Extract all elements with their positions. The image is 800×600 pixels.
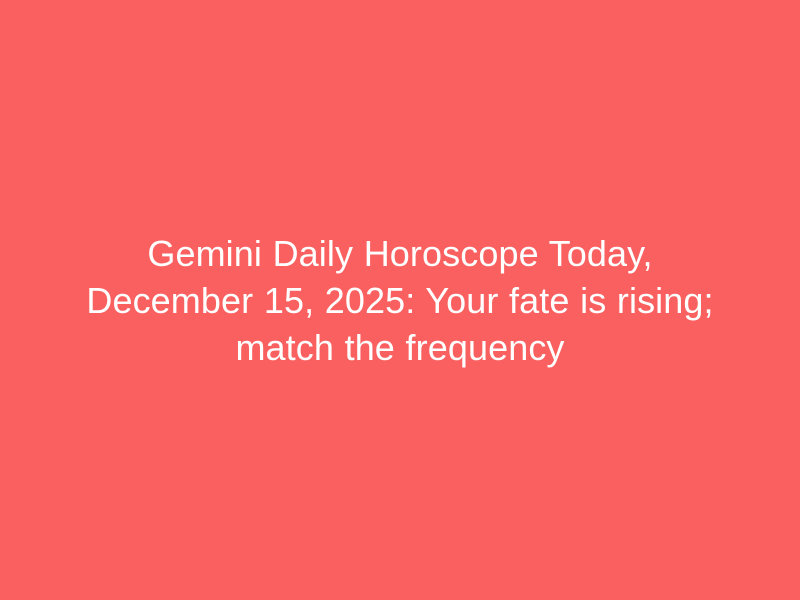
- horoscope-headline-card: Gemini Daily Horoscope Today, December 1…: [0, 0, 800, 600]
- headline-block: Gemini Daily Horoscope Today, December 1…: [50, 230, 750, 371]
- page-title: Gemini Daily Horoscope Today, December 1…: [60, 230, 740, 371]
